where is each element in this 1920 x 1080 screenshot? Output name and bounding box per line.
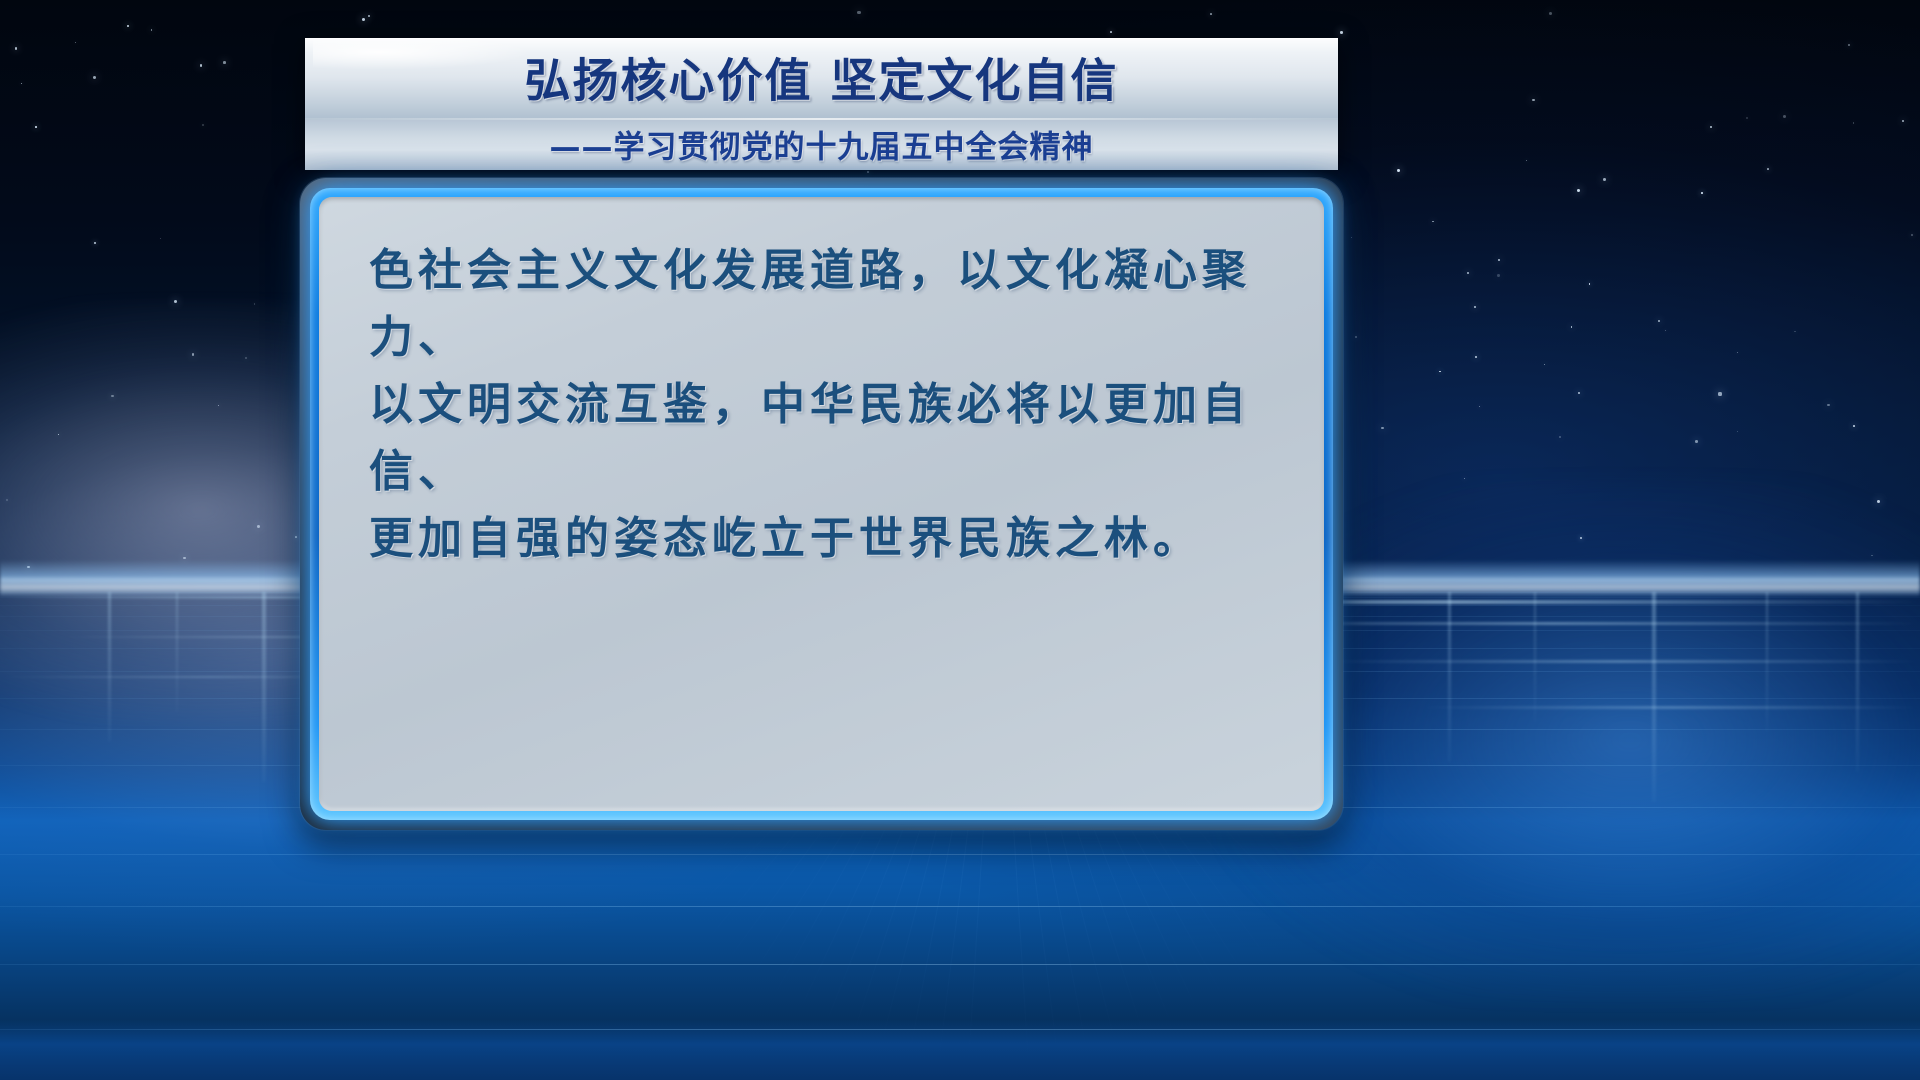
star xyxy=(1911,234,1912,235)
star xyxy=(1710,126,1712,128)
star xyxy=(1532,99,1535,102)
vertical-light-beam xyxy=(262,592,266,782)
star xyxy=(1474,306,1476,308)
page-title: 弘扬核心价值 坚定文化自信 xyxy=(305,45,1338,111)
title-banner: 弘扬核心价值 坚定文化自信 ——学习贯彻党的十九届五中全会精神 xyxy=(305,38,1338,173)
star xyxy=(1902,120,1904,122)
star xyxy=(1853,425,1855,427)
star xyxy=(6,499,7,500)
star xyxy=(1397,169,1400,172)
star xyxy=(1737,431,1738,432)
subtitle-bar: ——学习贯彻党的十九届五中全会精神 xyxy=(305,120,1338,170)
light-streak xyxy=(1420,706,1920,709)
content-body-line: 更加自强的姿态屹立于世界民族之林。 xyxy=(369,505,1298,572)
star xyxy=(1355,336,1357,338)
star xyxy=(1794,331,1796,333)
star xyxy=(1848,44,1850,46)
content-panel: 色社会主义文化发展道路，以文化凝心聚力、以文明交流互鉴，中华民族必将以更加自信、… xyxy=(319,197,1324,811)
light-streak xyxy=(1320,660,1920,663)
star xyxy=(1340,31,1343,34)
floor-grid-line-horizontal xyxy=(0,964,1920,965)
content-body-line: 以文明交流互鉴，中华民族必将以更加自信、 xyxy=(369,371,1298,505)
star xyxy=(857,11,860,14)
star xyxy=(160,238,161,239)
content-panel-frame: 色社会主义文化发展道路，以文化凝心聚力、以文明交流互鉴，中华民族必将以更加自信、… xyxy=(300,178,1343,830)
star xyxy=(192,353,195,356)
star xyxy=(1110,31,1112,33)
vertical-light-beam xyxy=(1652,592,1656,802)
star xyxy=(368,15,370,17)
star xyxy=(183,557,185,559)
star xyxy=(295,536,297,538)
background-stage: 弘扬核心价值 坚定文化自信 ——学习贯彻党的十九届五中全会精神 色社会主义文化发… xyxy=(0,0,1920,1080)
star xyxy=(35,126,37,128)
vertical-light-beam xyxy=(1534,592,1536,722)
star xyxy=(202,124,204,126)
floor-grid-line-horizontal xyxy=(0,906,1920,907)
vertical-light-beam xyxy=(108,592,111,742)
star xyxy=(1559,436,1562,439)
star xyxy=(94,242,95,243)
star xyxy=(362,18,365,21)
star xyxy=(1549,12,1552,15)
star xyxy=(1746,117,1748,119)
star xyxy=(1526,160,1527,161)
content-panel-glow-border: 色社会主义文化发展道路，以文化凝心聚力、以文明交流互鉴，中华民族必将以更加自信、… xyxy=(310,188,1333,820)
star xyxy=(1475,356,1477,358)
star xyxy=(200,64,203,67)
star xyxy=(1439,371,1441,373)
floor-reflection xyxy=(0,1020,1920,1080)
star xyxy=(1580,537,1581,538)
star xyxy=(1737,352,1738,353)
star xyxy=(1210,13,1212,15)
star xyxy=(1479,406,1480,407)
star xyxy=(1351,237,1352,238)
star xyxy=(1783,115,1786,118)
star xyxy=(15,47,18,50)
content-body-line: 色社会主义文化发展道路，以文化凝心聚力、 xyxy=(369,237,1298,371)
title-bar: 弘扬核心价值 坚定文化自信 xyxy=(305,38,1338,120)
star xyxy=(75,42,76,43)
content-body-text: 色社会主义文化发展道路，以文化凝心聚力、以文明交流互鉴，中华民族必将以更加自信、… xyxy=(369,237,1298,572)
star xyxy=(1718,392,1721,395)
star xyxy=(1767,168,1769,170)
star xyxy=(1381,427,1384,430)
star xyxy=(1589,283,1590,284)
star xyxy=(1498,259,1501,262)
star xyxy=(218,405,219,406)
vertical-light-beam xyxy=(176,592,178,712)
star xyxy=(1432,221,1434,223)
vertical-light-beam xyxy=(1766,592,1768,732)
vertical-light-beam xyxy=(1856,592,1859,772)
star xyxy=(1603,178,1606,181)
star xyxy=(151,29,153,31)
star xyxy=(1544,364,1546,366)
star xyxy=(21,83,22,84)
star xyxy=(1497,274,1500,277)
star xyxy=(1827,404,1830,407)
star xyxy=(1665,330,1666,331)
star xyxy=(93,76,96,79)
star xyxy=(223,61,226,64)
floor-grid-line-horizontal xyxy=(0,854,1920,855)
star xyxy=(1578,392,1580,394)
star xyxy=(1467,272,1469,274)
star xyxy=(1577,189,1580,192)
page-subtitle: ——学习贯彻党的十九届五中全会精神 xyxy=(305,122,1338,167)
star xyxy=(1695,440,1698,443)
star xyxy=(1853,122,1855,124)
star xyxy=(1658,320,1660,322)
star xyxy=(1571,326,1573,328)
star xyxy=(257,525,260,528)
star xyxy=(1701,192,1703,194)
star xyxy=(127,25,129,27)
star xyxy=(174,300,177,303)
vertical-light-beam xyxy=(1448,592,1451,762)
